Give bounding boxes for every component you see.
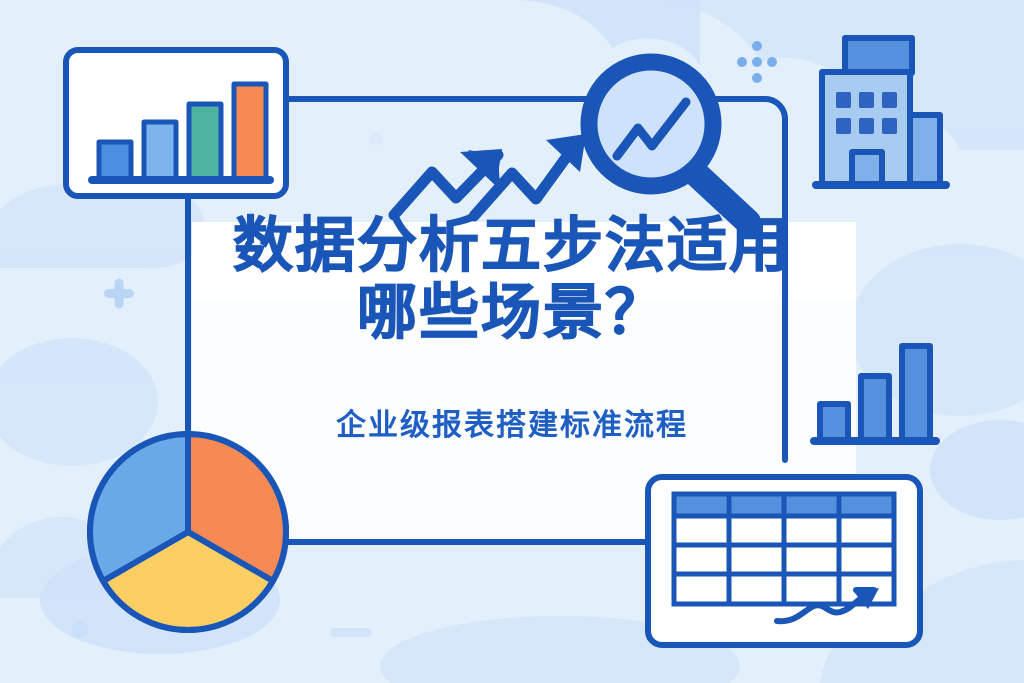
poster-subtitle: 企业级报表搭建标准流程 (0, 400, 1024, 444)
spreadsheet-table-card-icon (0, 0, 1024, 683)
poster-canvas: 数据分析五步法适用 哪些场景？ 企业级报表搭建标准流程 (0, 0, 1024, 683)
